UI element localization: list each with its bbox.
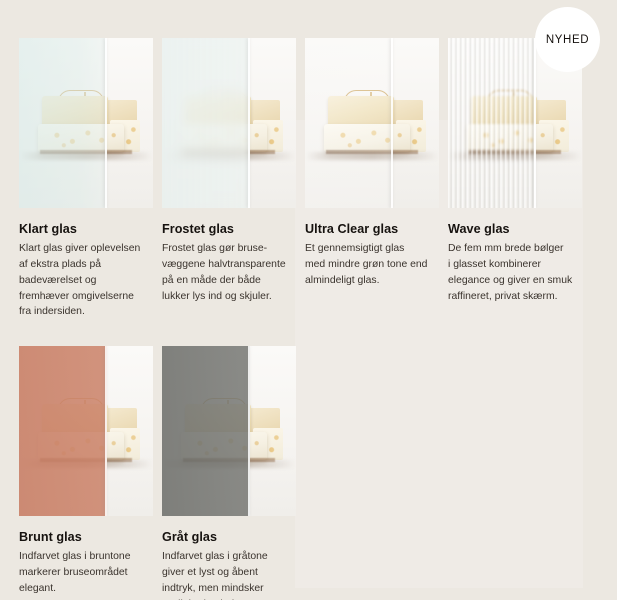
glass-edge <box>391 38 393 208</box>
card-description: Frostet glas gør bruse- væggene halvtran… <box>162 241 296 304</box>
glass-edge <box>248 38 250 208</box>
card-description: De fem mm brede bølger i glasset kombine… <box>448 241 582 304</box>
glass-panel-ultra-clear <box>305 38 393 208</box>
card-title: Gråt glas <box>162 530 296 545</box>
glass-edge <box>248 346 250 516</box>
card-description: Klart glas giver oplevelsen af ekstra pl… <box>19 241 153 320</box>
glass-edge <box>534 38 536 208</box>
card-row-1: Klart glas Klart glas giver oplevelsen a… <box>19 38 599 320</box>
glass-panel-brown <box>19 346 107 516</box>
glass-panel-wave <box>448 38 536 208</box>
card-title: Wave glas <box>448 222 582 237</box>
glass-options-grid: Klart glas Klart glas giver oplevelsen a… <box>19 38 599 600</box>
card-wave-glas[interactable]: Wave glas De fem mm brede bølger i glass… <box>448 38 582 304</box>
glass-edge <box>105 38 107 208</box>
card-title: Klart glas <box>19 222 153 237</box>
glass-panel-frosted <box>162 38 250 208</box>
card-image-brunt-glas <box>19 346 153 516</box>
glass-panel-grey <box>162 346 250 516</box>
card-brunt-glas[interactable]: Brunt glas Indfarvet glas i bruntone mar… <box>19 346 153 597</box>
card-description: Indfarvet glas i bruntone markerer bruse… <box>19 549 153 596</box>
page-stage: NYHED <box>0 0 617 600</box>
card-image-frostet-glas <box>162 38 296 208</box>
card-description: Indfarvet glas i gråtone giver et lyst o… <box>162 549 296 600</box>
card-ultra-clear-glas[interactable]: Ultra Clear glas Et gennemsigtigt glas m… <box>305 38 439 289</box>
glass-edge <box>105 346 107 516</box>
card-image-klart-glas <box>19 38 153 208</box>
card-row-2: Brunt glas Indfarvet glas i bruntone mar… <box>19 346 599 600</box>
nyhed-badge-label: NYHED <box>546 34 589 46</box>
card-graat-glas[interactable]: Gråt glas Indfarvet glas i gråtone giver… <box>162 346 296 600</box>
card-title: Brunt glas <box>19 530 153 545</box>
card-image-graat-glas <box>162 346 296 516</box>
card-description: Et gennemsigtigt glas med mindre grøn to… <box>305 241 439 288</box>
nyhed-badge[interactable]: NYHED <box>535 7 600 72</box>
card-image-ultra-clear-glas <box>305 38 439 208</box>
card-frostet-glas[interactable]: Frostet glas Frostet glas gør bruse- væg… <box>162 38 296 304</box>
card-title: Ultra Clear glas <box>305 222 439 237</box>
card-klart-glas[interactable]: Klart glas Klart glas giver oplevelsen a… <box>19 38 153 320</box>
card-title: Frostet glas <box>162 222 296 237</box>
glass-panel-clear <box>19 38 107 208</box>
